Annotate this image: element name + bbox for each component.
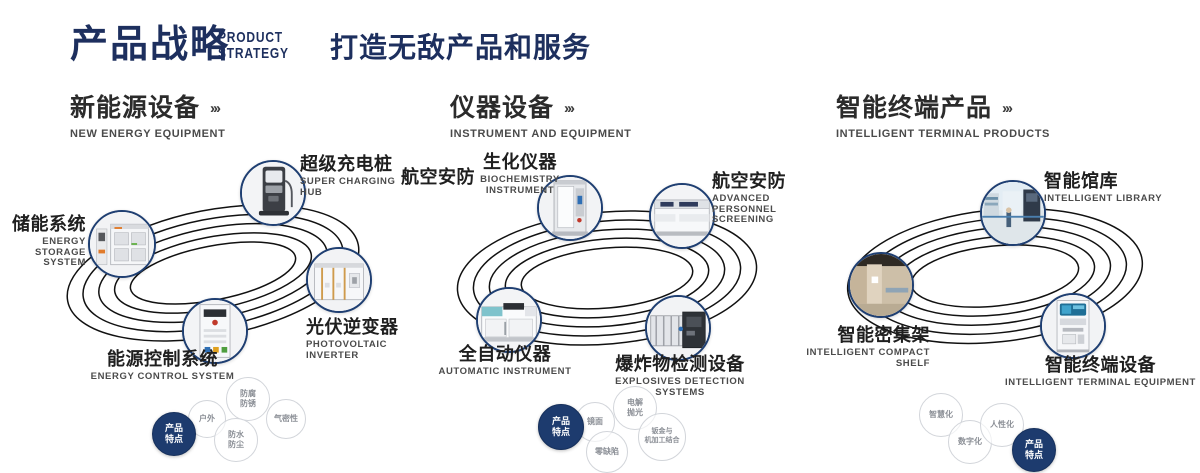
library-interior-icon <box>982 182 1044 244</box>
node-photovoltaic-inverter[interactable] <box>306 247 372 313</box>
feature-bubble-3: 防水 防尘 <box>214 418 258 462</box>
section-title-text: 新能源设备 <box>70 96 200 121</box>
core-bubble-product-features: 产品 特点 <box>538 404 584 450</box>
label-energy-control-system: 能源控制系统 ENERGY CONTROL SYSTEM <box>90 350 235 383</box>
feature-bubble-4: 钣金与 机加工结合 <box>638 413 686 461</box>
label-cn: 智能馆库 <box>1044 172 1162 191</box>
feature-bubble-3: 零缺陷 <box>586 431 628 473</box>
node-advanced-personnel-screening[interactable] <box>649 183 715 249</box>
node-intelligent-library[interactable] <box>980 180 1046 246</box>
core-bubble-product-features: 产品 特点 <box>1012 428 1056 472</box>
label-cn: 储能系统 <box>0 215 86 234</box>
label-intelligent-compact-shelf: 智能密集架 INTELLIGENT COMPACT SHELF <box>790 326 930 369</box>
diagram-group-instrument: 镜面 电解 抛光 零缺陷 钣金与 机加工结合 产品 特点 航空安防 生化仪器 B… <box>400 150 820 400</box>
screening-machine-icon <box>651 185 713 247</box>
label-intelligent-library: 智能馆库 INTELLIGENT LIBRARY <box>1044 172 1162 205</box>
section-title-cn: 智能终端产品 ››› <box>836 96 1050 121</box>
section-title-text: 智能终端产品 <box>836 96 992 121</box>
compact-shelf-icon <box>850 254 912 316</box>
label-energy-storage-system: 储能系统 ENERGY STORAGE SYSTEM <box>0 215 86 268</box>
pv-inverter-cabinet-icon <box>308 249 370 311</box>
feature-bubble-4: 气密性 <box>266 399 306 439</box>
section-title-cn: 新能源设备 ››› <box>70 96 225 121</box>
page-title: 产品战略 <box>70 26 230 64</box>
self-service-kiosk-icon <box>1042 295 1104 357</box>
page-header: 产品战略 PRODUCT STRATEGY 打造无敌产品和服务 <box>0 0 1200 88</box>
node-super-charging-hub[interactable] <box>240 160 306 226</box>
section-title-en: INSTRUMENT AND EQUIPMENT <box>450 129 631 140</box>
section-title-en: NEW ENERGY EQUIPMENT <box>70 129 225 140</box>
diagram-group-intelligent-terminal: 智慧化 数字化 人性化 产品 特点 智能馆库 INTELLIGEN <box>790 150 1200 400</box>
feature-bubble-2: 防腐 防锈 <box>226 377 270 421</box>
page-title-english: PRODUCT STRATEGY <box>218 30 289 62</box>
label-cn: 全自动仪器 <box>420 345 590 364</box>
product-strategy-infographic: 产品战略 PRODUCT STRATEGY 打造无敌产品和服务 新能源设备 ››… <box>0 0 1200 422</box>
label-en: ENERGY STORAGE SYSTEM <box>0 237 86 268</box>
label-en: AUTOMATIC INSTRUMENT <box>420 367 590 377</box>
label-en: INTELLIGENT COMPACT SHELF <box>790 348 930 369</box>
label-cn: 智能终端设备 <box>1003 356 1198 375</box>
node-explosives-detection-systems[interactable] <box>645 295 711 361</box>
label-en: ENERGY CONTROL SYSTEM <box>90 372 235 382</box>
diagram-group-new-energy: 户外 防腐 防锈 防水 防尘 气密性 产品 特点 储能系统 <box>0 150 420 400</box>
energy-storage-cabinet-icon <box>90 212 154 276</box>
chevron-right-icon: ››› <box>564 101 573 116</box>
node-intelligent-terminal-equipment[interactable] <box>1040 293 1106 359</box>
section-title-en: INTELLIGENT TERMINAL PRODUCTS <box>836 129 1050 140</box>
chevron-right-icon: ››› <box>210 101 219 116</box>
label-cn: 能源控制系统 <box>90 350 235 369</box>
chevron-right-icon: ››› <box>1002 101 1011 116</box>
label-en: INTELLIGENT LIBRARY <box>1044 194 1162 204</box>
label-cn: 生化仪器 <box>460 153 580 172</box>
label-cn: 智能密集架 <box>790 326 930 345</box>
label-explosives-detection-systems: 爆炸物检测设备 EXPLOSIVES DETECTION SYSTEMS <box>600 355 760 398</box>
node-energy-storage-system[interactable] <box>88 210 156 278</box>
label-intelligent-terminal-equipment: 智能终端设备 INTELLIGENT TERMINAL EQUIPMENT <box>1003 356 1198 389</box>
label-biochemistry-instrument: 生化仪器 BIOCHEMISTRY INSTRUMENT <box>460 153 580 196</box>
label-automatic-instrument: 全自动仪器 AUTOMATIC INSTRUMENT <box>420 345 590 378</box>
core-bubble-product-features: 产品 特点 <box>152 412 196 456</box>
label-en: INTELLIGENT TERMINAL EQUIPMENT <box>1003 378 1198 388</box>
automatic-instrument-icon <box>478 289 540 351</box>
label-en: BIOCHEMISTRY INSTRUMENT <box>460 175 580 196</box>
explosives-detector-icon <box>647 297 709 359</box>
node-intelligent-compact-shelf[interactable] <box>848 252 914 318</box>
page-subtitle: 打造无敌产品和服务 <box>330 34 591 62</box>
label-en: EXPLOSIVES DETECTION SYSTEMS <box>600 377 760 398</box>
section-title-text: 仪器设备 <box>450 96 554 121</box>
label-cn: 爆炸物检测设备 <box>600 355 760 374</box>
section-header-new-energy: 新能源设备 ››› NEW ENERGY EQUIPMENT <box>70 96 225 140</box>
section-header-instrument: 仪器设备 ››› INSTRUMENT AND EQUIPMENT <box>450 96 631 140</box>
charging-pile-icon <box>242 162 304 224</box>
section-title-cn: 仪器设备 ››› <box>450 96 631 121</box>
section-header-intelligent-terminal: 智能终端产品 ››› INTELLIGENT TERMINAL PRODUCTS <box>836 96 1050 140</box>
